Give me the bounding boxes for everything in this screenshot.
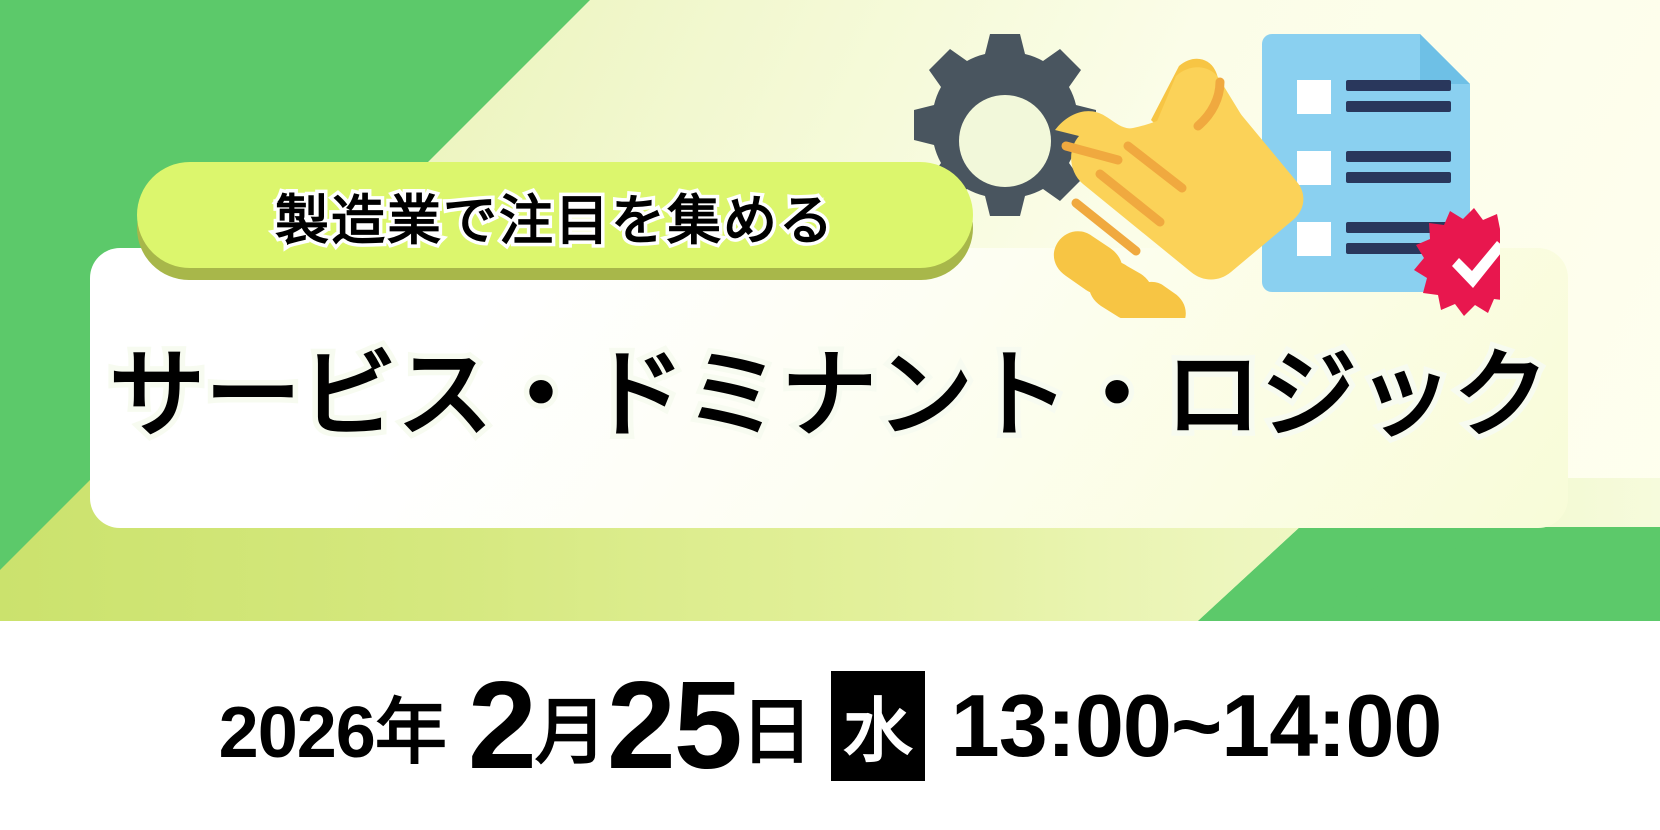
schedule-time-range: 13:00~14:00 <box>951 675 1442 777</box>
schedule-row: 2026年 2 月 25 日 水 13:00~14:00 <box>0 621 1660 830</box>
schedule-month-number: 2 <box>468 664 535 788</box>
page-title: サービス・ドミナント・ロジック <box>90 296 1568 476</box>
illustration-group <box>880 18 1500 318</box>
schedule-day-number: 25 <box>607 664 741 788</box>
subtitle-text: 製造業で注目を集める <box>137 162 973 268</box>
schedule-month-unit: 月 <box>535 673 607 778</box>
schedule-year: 2026年 <box>219 673 446 778</box>
webinar-banner: 製造業で注目を集める サービス・ドミナント・ロジック 2026年 2 月 25 … <box>0 0 1660 830</box>
schedule-day-unit: 日 <box>741 673 813 778</box>
schedule-weekday-badge: 水 <box>831 671 925 781</box>
